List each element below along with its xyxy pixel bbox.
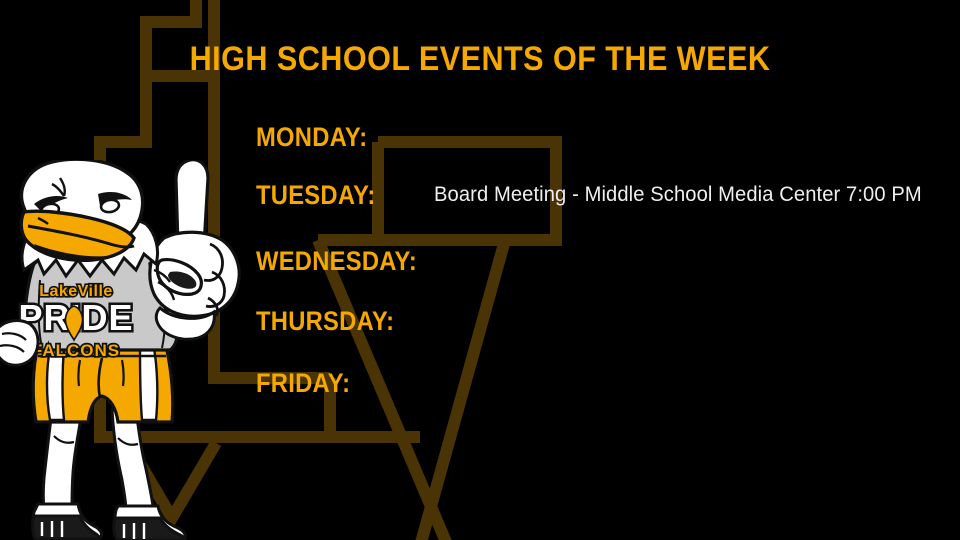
page-title: HIGH SCHOOL EVENTS OF THE WEEK [48,40,912,79]
mascot-legs [43,410,154,512]
mascot-pointing-hand [150,160,239,339]
day-label-monday: MONDAY: [256,122,367,153]
list-item: TUESDAY: Board Meeting - Middle School M… [256,180,916,246]
events-list: MONDAY: TUESDAY: Board Meeting - Middle … [256,122,916,426]
logo-text-falcons: FALCONS [32,341,120,360]
list-item: WEDNESDAY: [256,246,916,306]
list-item: THURSDAY: [256,306,916,368]
falcon-mascot: LakeVille PRIDE FALCONS [0,160,244,540]
mascot-left-fist [0,321,38,366]
day-label-thursday: THURSDAY: [256,306,394,337]
slide-canvas: HIGH SCHOOL EVENTS OF THE WEEK MONDAY: T… [0,0,960,540]
list-item: FRIDAY: [256,368,916,426]
day-label-tuesday: TUESDAY: [256,180,376,211]
mascot-eagle-head [21,160,142,260]
day-label-wednesday: WEDNESDAY: [256,246,417,277]
day-event-tuesday: Board Meeting - Middle School Media Cent… [434,183,922,207]
list-item: MONDAY: [256,122,916,180]
day-label-friday: FRIDAY: [256,368,350,399]
mascot-shoes [33,504,186,540]
